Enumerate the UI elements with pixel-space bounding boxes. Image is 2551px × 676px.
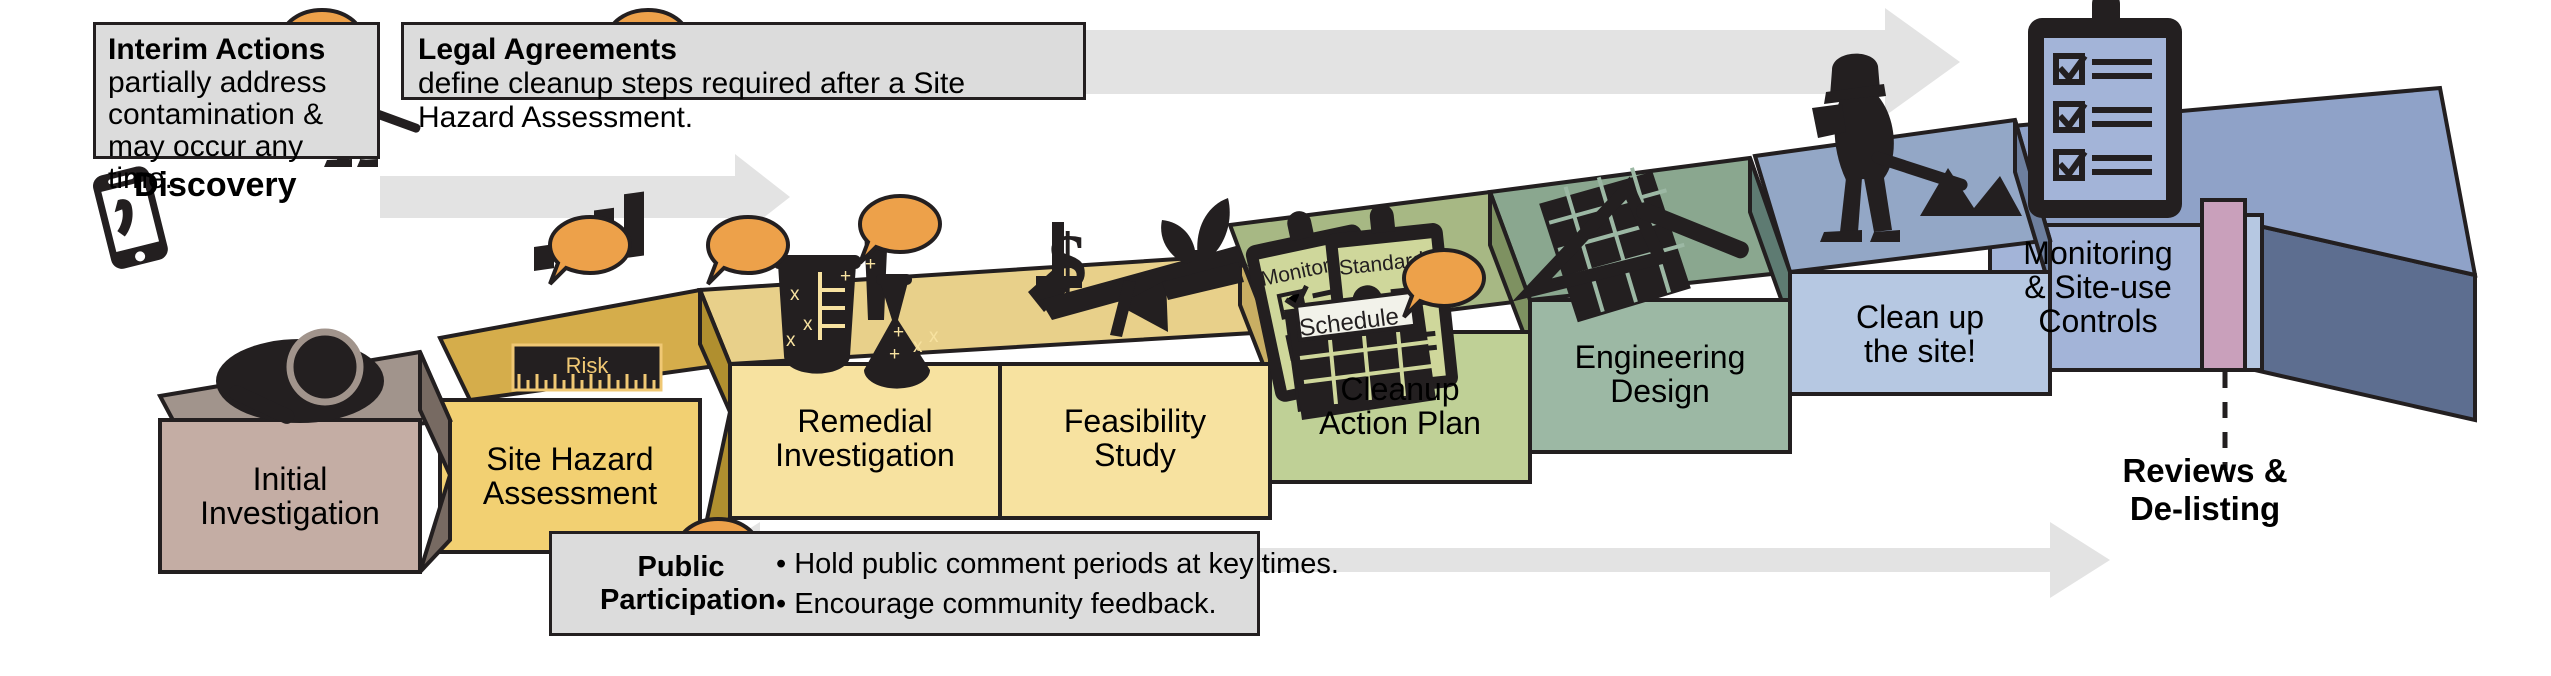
interim-actions-line-1: partially address	[108, 67, 365, 99]
clipboard-checklist-icon	[2028, 0, 2182, 218]
reviews-delisting-label: Reviews & De-listing	[2090, 452, 2320, 528]
svg-text:x: x	[786, 330, 796, 351]
public-participation-title-line-1: Public	[600, 551, 762, 584]
svg-text:+: +	[840, 266, 851, 287]
svg-text:x: x	[913, 336, 923, 357]
reviews-delisting-line-2: De-listing	[2090, 490, 2320, 528]
public-participation-bullets: • Hold public comment periods at key tim…	[762, 544, 1339, 624]
diagram-canvas: Risk xx x+ +x +x +	[0, 0, 2551, 676]
svg-text:x: x	[790, 284, 800, 305]
interim-actions-callout[interactable]: Interim Actions partially address contam…	[93, 22, 380, 159]
svg-text:+: +	[893, 322, 904, 343]
svg-text:x: x	[803, 314, 813, 335]
discovery-label: Discovery	[134, 168, 297, 203]
svg-text:x: x	[929, 326, 939, 347]
public-participation-bullet-2: • Encourage community feedback.	[776, 584, 1339, 624]
interim-actions-line-2: contamination &	[108, 99, 365, 131]
public-participation-title: Public Participation	[552, 551, 762, 617]
reviews-delisting-line-1: Reviews &	[2090, 452, 2320, 490]
interim-actions-title: Interim Actions	[108, 33, 365, 67]
speech-bubble-feasibility-study	[708, 217, 788, 284]
public-participation-callout[interactable]: Public Participation • Hold public comme…	[549, 531, 1260, 636]
legal-agreements-title: Legal Agreements	[418, 33, 1069, 67]
speech-bubble-remedial-investigation	[550, 217, 630, 284]
legal-agreements-callout[interactable]: Legal Agreements define cleanup steps re…	[401, 22, 1086, 100]
legal-agreements-body: define cleanup steps required after a Si…	[418, 67, 1069, 135]
public-participation-bullet-1: • Hold public comment periods at key tim…	[776, 544, 1339, 584]
svg-text:+: +	[889, 344, 900, 365]
step-block-site-hazard-assessment[interactable]	[440, 290, 730, 552]
svg-text:Risk: Risk	[566, 353, 610, 378]
public-participation-title-line-2: Participation	[600, 584, 762, 617]
speech-bubble-cleanup-action-plan	[860, 196, 940, 263]
